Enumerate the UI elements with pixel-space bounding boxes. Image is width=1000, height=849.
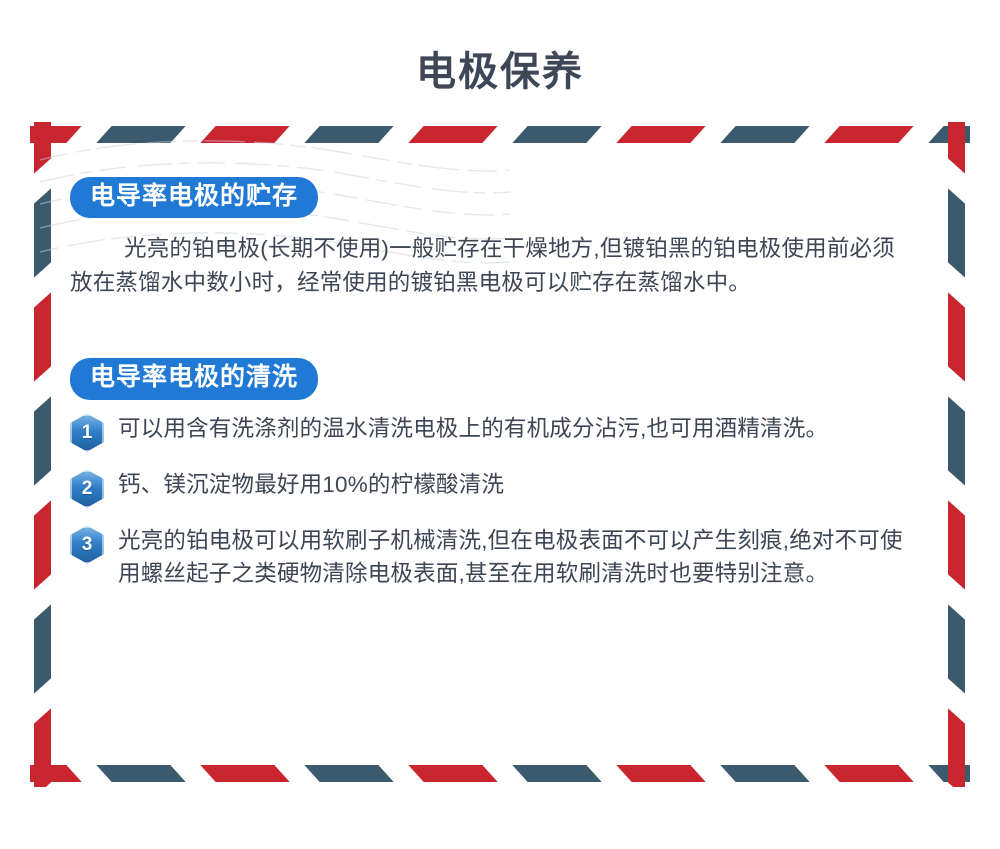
list-item-text: 可以用含有洗涤剂的温水清洗电极上的有机成分沾污,也可用酒精清洗。 xyxy=(118,412,828,446)
section-badge-storage: 电导率电极的贮存 xyxy=(70,177,318,218)
hexagon-number-label: 1 xyxy=(70,414,104,452)
border-stripes-right xyxy=(944,122,970,787)
border-stripe xyxy=(616,126,705,143)
border-stripe xyxy=(408,765,497,782)
content-area: 电导率电极的贮存 光亮的铂电极(长期不使用)一般贮存在干燥地方,但镀铂黑的铂电极… xyxy=(70,177,930,747)
border-stripes-bottom xyxy=(30,761,970,787)
border-stripe xyxy=(34,292,51,381)
border-stripes-top xyxy=(30,122,970,148)
envelope-frame: 电导率电极的贮存 光亮的铂电极(长期不使用)一般贮存在干燥地方,但镀铂黑的铂电极… xyxy=(30,122,970,787)
border-stripe xyxy=(200,126,289,143)
list-item: 2 钙、镁沉淀物最好用10%的柠檬酸清洗 xyxy=(70,468,930,508)
list-item-text: 钙、镁沉淀物最好用10%的柠檬酸清洗 xyxy=(118,468,504,502)
border-stripe xyxy=(96,126,185,143)
border-stripe xyxy=(34,396,51,485)
page-title: 电极保养 xyxy=(0,27,1000,95)
border-stripe xyxy=(34,122,51,174)
hexagon-number-icon: 1 xyxy=(70,414,104,452)
border-stripe xyxy=(948,396,965,485)
border-stripe xyxy=(948,188,965,277)
border-stripe xyxy=(948,708,965,787)
border-stripe xyxy=(720,126,809,143)
list-item: 3 光亮的铂电极可以用软刷子机械清洗,但在电极表面不可以产生刻痕,绝对不可使用螺… xyxy=(70,524,930,592)
list-item: 1 可以用含有洗涤剂的温水清洗电极上的有机成分沾污,也可用酒精清洗。 xyxy=(70,412,930,452)
border-stripe xyxy=(824,126,913,143)
border-stripe xyxy=(720,765,809,782)
border-stripe xyxy=(96,765,185,782)
border-stripe xyxy=(304,765,393,782)
border-stripe xyxy=(824,765,913,782)
hexagon-number-label: 3 xyxy=(70,526,104,564)
cleaning-list: 1 可以用含有洗涤剂的温水清洗电极上的有机成分沾污,也可用酒精清洗。 2 钙、镁… xyxy=(70,412,930,592)
border-stripe xyxy=(200,765,289,782)
border-stripes-left xyxy=(30,122,56,787)
border-stripe xyxy=(34,188,51,277)
section-badge-cleaning: 电导率电极的清洗 xyxy=(70,358,318,399)
border-stripe xyxy=(34,500,51,589)
section-cleaning: 电导率电极的清洗 1 可以用含有洗涤剂的温水清洗电极上的有机成分沾污,也可用酒精… xyxy=(70,358,930,591)
section-storage: 电导率电极的贮存 光亮的铂电极(长期不使用)一般贮存在干燥地方,但镀铂黑的铂电极… xyxy=(70,177,930,301)
border-stripe xyxy=(512,126,601,143)
border-stripe xyxy=(34,708,51,787)
border-stripe xyxy=(408,126,497,143)
border-stripe xyxy=(948,604,965,693)
border-stripe xyxy=(512,765,601,782)
border-stripe xyxy=(34,604,51,693)
hexagon-number-icon: 2 xyxy=(70,470,104,508)
hexagon-number-label: 2 xyxy=(70,470,104,508)
border-stripe xyxy=(948,500,965,589)
border-stripe xyxy=(616,765,705,782)
hexagon-number-icon: 3 xyxy=(70,526,104,564)
border-stripe xyxy=(948,292,965,381)
border-stripe xyxy=(304,126,393,143)
list-item-text: 光亮的铂电极可以用软刷子机械清洗,但在电极表面不可以产生刻痕,绝对不可使用螺丝起… xyxy=(118,524,908,592)
storage-paragraph: 光亮的铂电极(长期不使用)一般贮存在干燥地方,但镀铂黑的铂电极使用前必须放在蒸馏… xyxy=(70,232,900,300)
border-stripe xyxy=(948,122,965,174)
